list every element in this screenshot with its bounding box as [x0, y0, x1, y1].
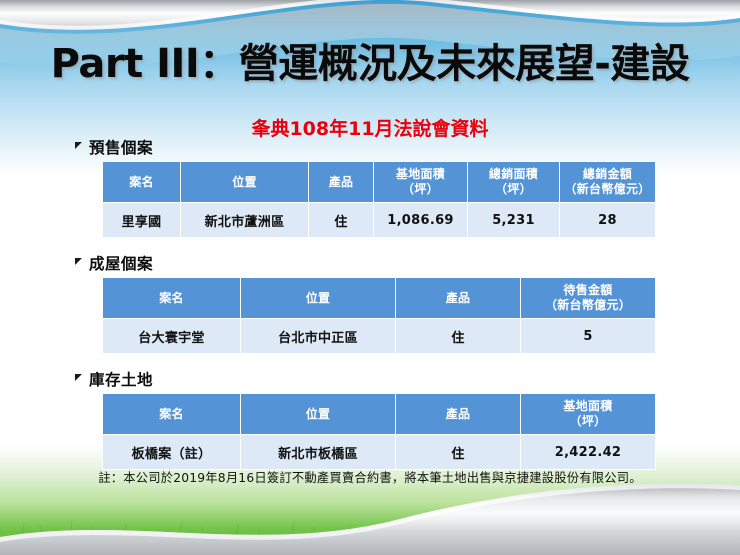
presale-projects-table: 案名 位置 產品 基地面積 （坪） 總銷面積	[102, 161, 656, 238]
header-line-2: （新台幣億元）	[562, 182, 653, 197]
header-line-1: 待售金額	[523, 283, 653, 298]
table-header-row: 案名 位置 產品 待售金額 （新台幣億元）	[103, 278, 656, 319]
slide-title: Part III：營運概況及未來展望-建設	[0, 42, 740, 86]
cell-site-area: 2,422.42	[521, 435, 656, 470]
column-header-site-area: 基地面積 （坪）	[521, 394, 656, 435]
table-header-row: 案名 位置 產品 基地面積 （坪）	[103, 394, 656, 435]
presentation-slide: Part III：營運概況及未來展望-建設 夆典108年11月法說會資料 預售個…	[0, 0, 740, 555]
column-header-site-area: 基地面積 （坪）	[374, 162, 468, 203]
column-header-product: 產品	[309, 162, 374, 203]
cell-project-name: 板橋案（註）	[103, 435, 241, 470]
column-header-project-name: 案名	[103, 162, 181, 203]
header-line-1: 基地面積	[376, 167, 465, 182]
section-label-completed: 成屋個案	[89, 252, 153, 274]
header-line-1: 產品	[398, 407, 518, 422]
column-header-project-name: 案名	[103, 278, 241, 319]
cell-pending-sales-amount: 5	[521, 319, 656, 354]
column-header-pending-sales-amount: 待售金額 （新台幣億元）	[521, 278, 656, 319]
completed-projects-table: 案名 位置 產品 待售金額 （新台幣億元）	[102, 277, 656, 354]
column-header-project-name: 案名	[103, 394, 241, 435]
table-row: 台大寰宇堂 台北市中正區 住 5	[103, 319, 656, 354]
cell-site-area: 1,086.69	[374, 203, 468, 238]
column-header-location: 位置	[241, 394, 396, 435]
section-label-landbank: 庫存土地	[89, 368, 153, 390]
header-line-1: 位置	[243, 407, 393, 422]
section-heading-landbank: 庫存土地	[75, 368, 153, 390]
cell-project-name: 里享國	[103, 203, 181, 238]
land-inventory-table: 案名 位置 產品 基地面積 （坪）	[102, 393, 656, 470]
column-header-product: 產品	[396, 278, 521, 319]
header-line-1: 案名	[105, 407, 238, 422]
header-line-1: 基地面積	[523, 399, 653, 414]
header-line-1: 案名	[105, 175, 178, 190]
header-line-1: 產品	[398, 291, 518, 306]
slide-subtitle: 夆典108年11月法說會資料	[0, 114, 740, 141]
table-header-row: 案名 位置 產品 基地面積 （坪） 總銷面積	[103, 162, 656, 203]
cell-location: 新北市蘆洲區	[181, 203, 309, 238]
header-line-2: （新台幣億元）	[523, 298, 653, 313]
cell-product: 住	[396, 319, 521, 354]
header-line-1: 總銷金額	[562, 167, 653, 182]
triangle-bullet-icon	[75, 258, 82, 265]
header-line-2: （坪）	[523, 414, 653, 429]
cell-total-sales-amount: 28	[560, 203, 656, 238]
cell-project-name: 台大寰宇堂	[103, 319, 241, 354]
cell-total-sales-area: 5,231	[468, 203, 560, 238]
column-header-total-sales-area: 總銷面積 （坪）	[468, 162, 560, 203]
cell-location: 新北市板橋區	[241, 435, 396, 470]
header-line-1: 產品	[311, 175, 371, 190]
column-header-product: 產品	[396, 394, 521, 435]
header-line-1: 總銷面積	[470, 167, 557, 182]
triangle-bullet-icon	[75, 374, 82, 381]
table-row: 里享國 新北市蘆洲區 住 1,086.69 5,231 28	[103, 203, 656, 238]
column-header-total-sales-amount: 總銷金額 （新台幣億元）	[560, 162, 656, 203]
slide-footnote: 註：本公司於2019年8月16日簽訂不動產買賣合約書，將本筆土地出售與京捷建設股…	[0, 468, 740, 486]
section-heading-completed: 成屋個案	[75, 252, 153, 274]
cell-product: 住	[396, 435, 521, 470]
column-header-location: 位置	[181, 162, 309, 203]
header-line-2: （坪）	[376, 182, 465, 197]
triangle-bullet-icon	[75, 142, 82, 149]
header-line-1: 案名	[105, 291, 238, 306]
header-line-1: 位置	[243, 291, 393, 306]
table-row: 板橋案（註） 新北市板橋區 住 2,422.42	[103, 435, 656, 470]
cell-location: 台北市中正區	[241, 319, 396, 354]
column-header-location: 位置	[241, 278, 396, 319]
header-line-2: （坪）	[470, 182, 557, 197]
cell-product: 住	[309, 203, 374, 238]
header-line-1: 位置	[183, 175, 306, 190]
